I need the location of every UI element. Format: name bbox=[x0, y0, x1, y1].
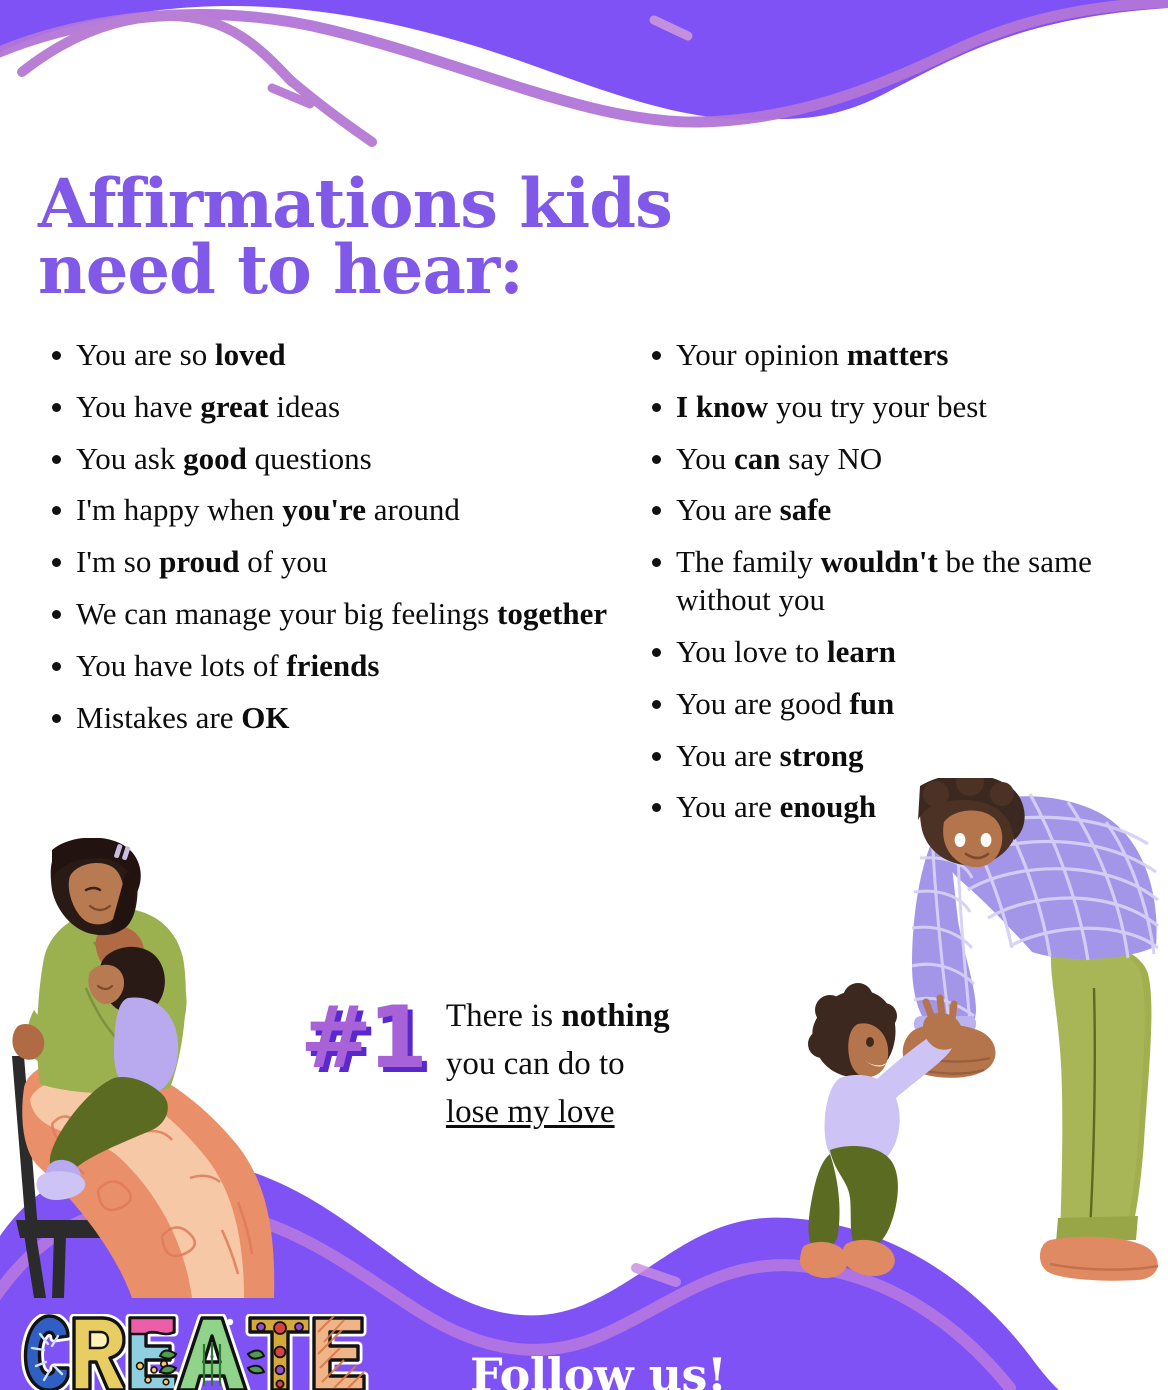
affirmation-text: We can manage your big feelings bbox=[76, 596, 497, 631]
create-letter-E-2 bbox=[314, 1316, 364, 1390]
affirmation-item: You have great ideas bbox=[44, 388, 634, 426]
affirmation-item: I know you try your best bbox=[644, 388, 1144, 426]
top-dash-accent-1 bbox=[272, 88, 310, 104]
affirmation-emphasis: learn bbox=[827, 634, 896, 669]
affirmation-emphasis: wouldn't bbox=[821, 544, 938, 579]
top-outline-stroke bbox=[0, 2, 1168, 122]
affirmation-emphasis: together bbox=[497, 596, 607, 631]
affirmation-text-tail: say NO bbox=[781, 441, 883, 476]
affirmation-text-tail: of you bbox=[240, 544, 328, 579]
page-title-line-1: Affirmations kids bbox=[38, 171, 858, 237]
rank-one-callout: #1 There is nothing you can do to lose m… bbox=[300, 985, 770, 1137]
rank-one-text: There is nothing you can do to lose my l… bbox=[446, 985, 670, 1137]
affirmation-item: Your opinion matters bbox=[644, 336, 1144, 374]
affirmation-emphasis: I know bbox=[676, 389, 768, 424]
affirmation-emphasis: friends bbox=[286, 648, 379, 683]
affirmation-text-tail: ideas bbox=[269, 389, 340, 424]
affirmation-text: I'm so bbox=[76, 544, 159, 579]
affirmation-emphasis: you're bbox=[282, 492, 366, 527]
affirmation-text: You are bbox=[676, 738, 780, 773]
mother-head bbox=[51, 838, 141, 935]
bottom-dash-accent bbox=[636, 1268, 676, 1282]
poster-canvas: Affirmations kids need to hear: You are … bbox=[0, 0, 1168, 1390]
affirmation-emphasis: proud bbox=[159, 544, 239, 579]
affirmation-item: You can say NO bbox=[644, 440, 1144, 478]
affirmation-emphasis: good bbox=[183, 441, 247, 476]
affirmation-text: You are bbox=[676, 492, 780, 527]
affirmation-item: You are safe bbox=[644, 491, 1144, 529]
illustration-mother-hugging-child bbox=[0, 838, 294, 1298]
affirmation-emphasis: great bbox=[200, 389, 268, 424]
affirmation-text: You have lots of bbox=[76, 648, 286, 683]
affirmation-text-tail: you try your best bbox=[768, 389, 987, 424]
affirmation-item: The family wouldn't be the same without … bbox=[644, 543, 1144, 619]
affirmation-text: You are bbox=[676, 789, 780, 824]
affirmation-text: You love to bbox=[676, 634, 827, 669]
affirmation-item: I'm happy when you're around bbox=[44, 491, 634, 529]
affirmation-item: We can manage your big feelings together bbox=[44, 595, 634, 633]
affirmation-text-tail: around bbox=[366, 492, 460, 527]
affirmation-emphasis: can bbox=[734, 441, 781, 476]
illustration-adult-reaching-child bbox=[800, 778, 1168, 1298]
rank-one-badge: #1 bbox=[300, 985, 424, 1081]
adult-shoe bbox=[1040, 1237, 1158, 1281]
create-letter-R bbox=[74, 1318, 126, 1390]
affirmation-text: The family bbox=[676, 544, 821, 579]
affirmation-item: You ask good questions bbox=[44, 440, 634, 478]
affirmation-text: Your opinion bbox=[676, 337, 847, 372]
follow-us-label: Follow us! bbox=[470, 1352, 727, 1390]
top-inner-arc-2 bbox=[288, 78, 372, 142]
affirmation-list-left: You are so lovedYou have great ideasYou … bbox=[44, 336, 634, 737]
affirmation-item: I'm so proud of you bbox=[44, 543, 634, 581]
rank-one-line-1: There is nothing bbox=[446, 993, 670, 1041]
page-title: Affirmations kids need to hear: bbox=[38, 171, 858, 302]
rank-one-line-1-bold: nothing bbox=[561, 998, 669, 1034]
affirmation-emphasis: safe bbox=[780, 492, 832, 527]
rank-one-line-3: lose my love bbox=[446, 1089, 670, 1137]
affirmation-text: You are so bbox=[76, 337, 215, 372]
affirmation-item: You are strong bbox=[644, 737, 1144, 775]
affirmation-text: You bbox=[676, 441, 734, 476]
affirmation-item: You love to learn bbox=[644, 633, 1144, 671]
create-brand-logo[interactable] bbox=[18, 1314, 370, 1390]
affirmations-column-left: You are so lovedYou have great ideasYou … bbox=[44, 336, 634, 751]
top-purple-blob bbox=[0, 0, 1168, 119]
affirmation-text: I'm happy when bbox=[76, 492, 282, 527]
affirmation-emphasis: fun bbox=[849, 686, 894, 721]
rank-one-line-1-pre: There is bbox=[446, 998, 561, 1034]
affirmation-text: You are good bbox=[676, 686, 849, 721]
child-right bbox=[800, 983, 962, 1278]
affirmation-item: Mistakes are OK bbox=[44, 699, 634, 737]
affirmation-text: You have bbox=[76, 389, 200, 424]
top-purple-blob-ext bbox=[0, 0, 1168, 120]
affirmation-emphasis: loved bbox=[215, 337, 286, 372]
affirmation-text-tail: questions bbox=[247, 441, 372, 476]
affirmation-text: Mistakes are bbox=[76, 700, 241, 735]
affirmation-list-right: Your opinion mattersI know you try your … bbox=[644, 336, 1144, 826]
affirmation-item: You have lots of friends bbox=[44, 647, 634, 685]
affirmations-column-right: Your opinion mattersI know you try your … bbox=[644, 336, 1144, 840]
adult-pants bbox=[1051, 942, 1152, 1242]
affirmation-emphasis: strong bbox=[780, 738, 864, 773]
affirmation-item: You are so loved bbox=[44, 336, 634, 374]
top-dash-accent-2 bbox=[654, 20, 688, 36]
affirmation-item: You are good fun bbox=[644, 685, 1144, 723]
affirmation-emphasis: matters bbox=[847, 337, 949, 372]
top-inner-arc bbox=[22, 16, 292, 82]
create-letter-C bbox=[26, 1316, 69, 1390]
affirmation-text: You ask bbox=[76, 441, 183, 476]
rank-one-line-2: you can do to bbox=[446, 1041, 670, 1089]
page-title-line-2: need to hear: bbox=[38, 237, 858, 303]
affirmation-emphasis: OK bbox=[241, 700, 289, 735]
